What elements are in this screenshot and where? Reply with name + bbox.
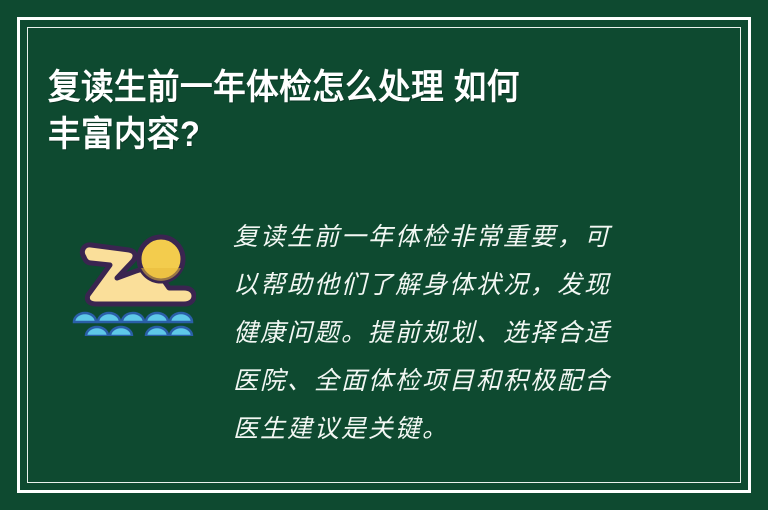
page-title: 复读生前一年体检怎么处理 如何 丰富内容? bbox=[48, 64, 668, 158]
paragraph-line: 医院、全面体检项目和积极配合 bbox=[233, 357, 653, 405]
body-paragraph: 复读生前一年体检非常重要，可 以帮助他们了解身体状况，发现 健康问题。提前规划、… bbox=[233, 213, 653, 453]
content-area: 复读生前一年体检非常重要，可 以帮助他们了解身体状况，发现 健康问题。提前规划、… bbox=[48, 205, 720, 460]
title-line-1: 复读生前一年体检怎么处理 如何 bbox=[48, 64, 625, 111]
paragraph-line: 健康问题。提前规划、选择合适 bbox=[233, 309, 653, 357]
title-line-2: 丰富内容? bbox=[48, 111, 625, 158]
swimmer-icon bbox=[70, 230, 196, 336]
paragraph-line: 以帮助他们了解身体状况，发现 bbox=[233, 261, 653, 309]
info-card: 复读生前一年体检怎么处理 如何 丰富内容? bbox=[0, 0, 768, 510]
paragraph-line: 医生建议是关键。 bbox=[233, 405, 653, 453]
paragraph-line: 复读生前一年体检非常重要，可 bbox=[233, 213, 653, 261]
